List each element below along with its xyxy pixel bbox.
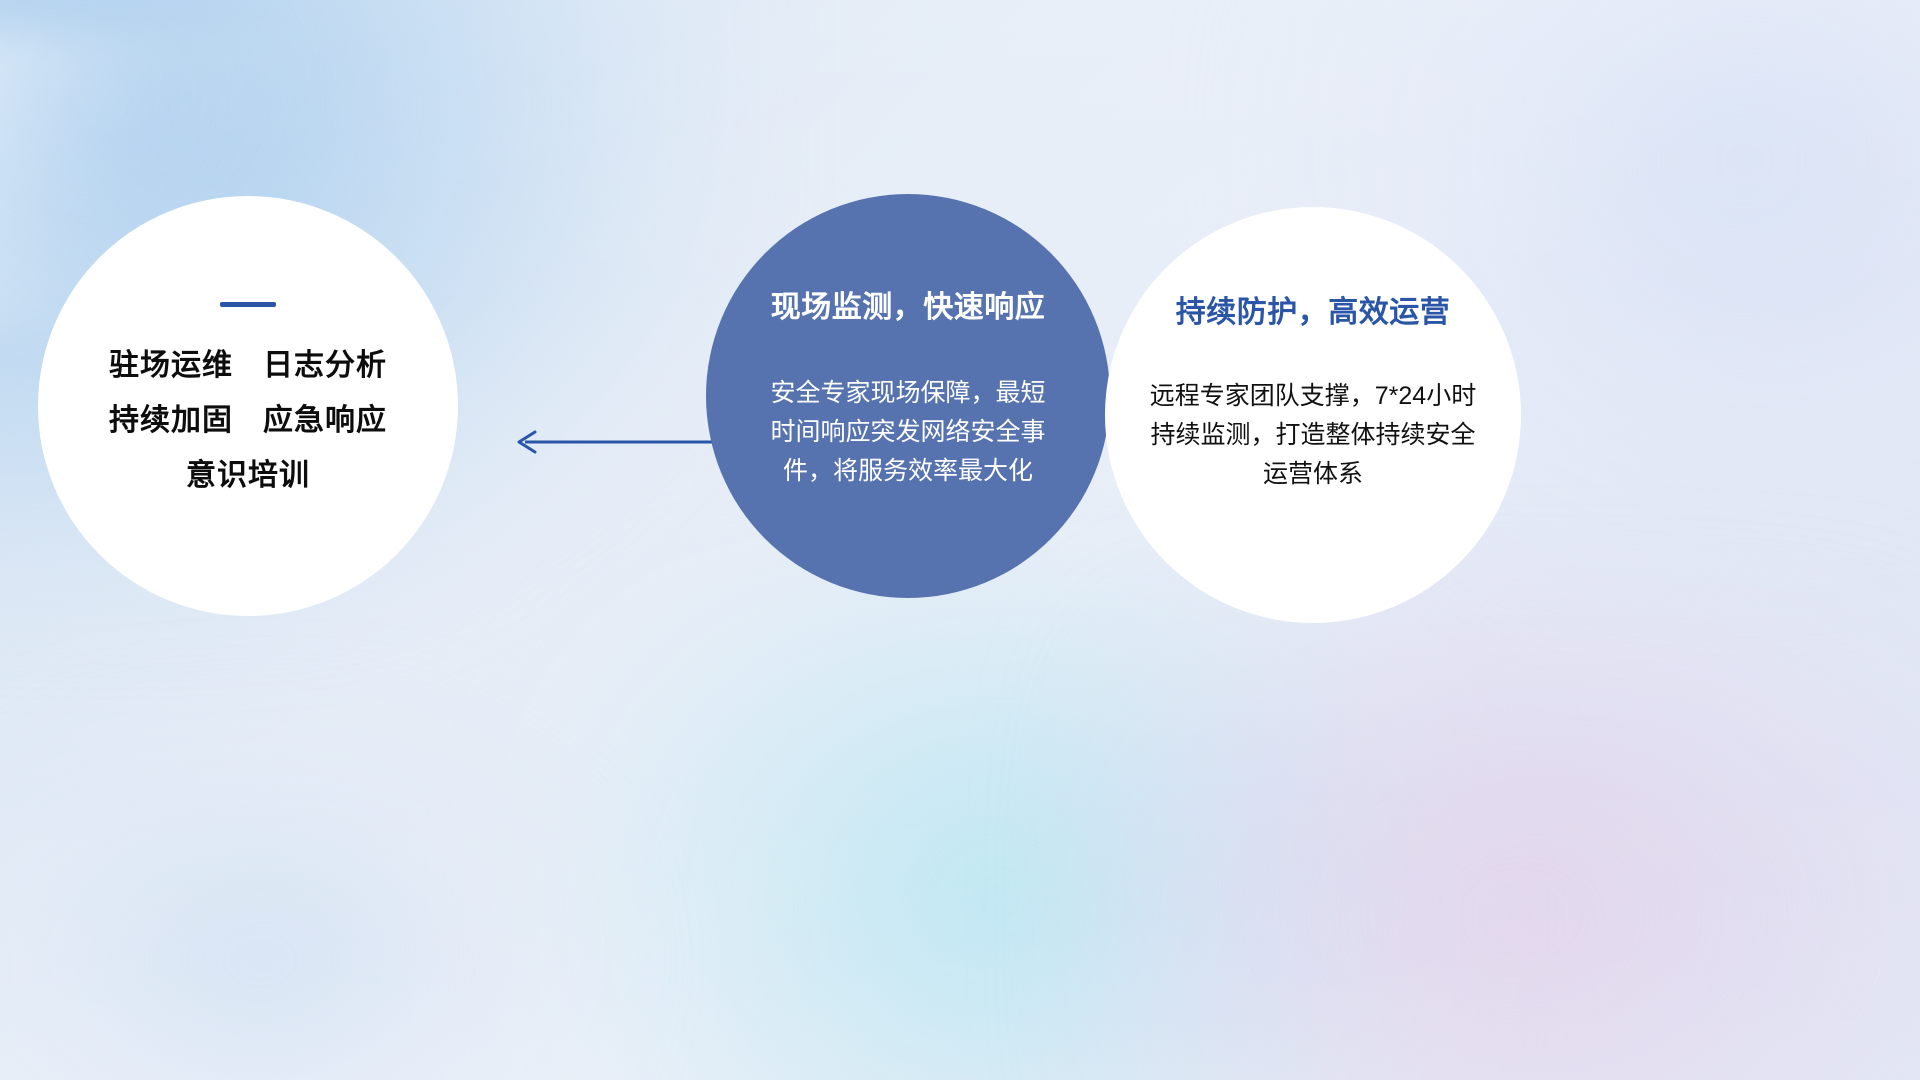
- right-circle-title: 持续防护，高效运营: [1176, 295, 1451, 331]
- right-circle-body: 远程专家团队支撑，7*24小时持续监测，打造整体持续安全运营体系: [1143, 377, 1483, 493]
- right-continuous-protection-circle[interactable]: 持续防护，高效运营 远程专家团队支撑，7*24小时持续监测，打造整体持续安全运营…: [1105, 207, 1521, 623]
- middle-circle-body: 安全专家现场保障，最短时间响应突发网络安全事件，将服务效率最大化: [768, 374, 1048, 490]
- keyword-item[interactable]: 意识培训: [186, 459, 310, 492]
- title-divider-rule: [220, 302, 276, 307]
- middle-onsite-monitoring-circle[interactable]: 现场监测，快速响应 安全专家现场保障，最短时间响应突发网络安全事件，将服务效率最…: [706, 194, 1110, 598]
- keyword-item[interactable]: 应急响应: [263, 404, 387, 437]
- keyword-row: 持续加固 应急响应: [109, 404, 387, 437]
- keyword-item[interactable]: 驻场运维: [109, 349, 233, 382]
- slide-canvas: 驻场运维 日志分析 持续加固 应急响应 意识培训 现场监测，快速响应 安全专家现…: [0, 0, 1920, 1080]
- middle-circle-title: 现场监测，快速响应: [771, 290, 1046, 326]
- keyword-row: 驻场运维 日志分析: [109, 349, 387, 382]
- keyword-item[interactable]: 持续加固: [109, 404, 233, 437]
- keyword-item[interactable]: 日志分析: [263, 349, 387, 382]
- left-keywords-circle[interactable]: 驻场运维 日志分析 持续加固 应急响应 意识培训: [38, 196, 458, 616]
- keyword-row: 意识培训: [186, 459, 310, 492]
- keyword-rows: 驻场运维 日志分析 持续加固 应急响应 意识培训: [109, 349, 387, 492]
